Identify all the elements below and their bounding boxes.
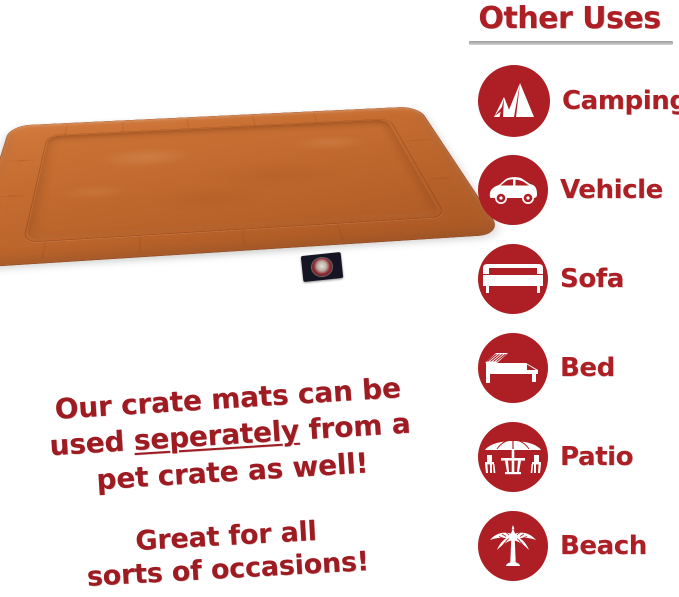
- page-title: Other Uses: [460, 1, 679, 36]
- list-item-camping: Camping: [460, 56, 679, 145]
- use-label-camping: Camping: [562, 86, 679, 116]
- list-item-bed: Bed: [460, 323, 679, 412]
- tagline-primary-line2-post: from a: [298, 407, 411, 447]
- sofa-badge: [478, 244, 548, 314]
- other-uses-panel: Other Uses Camping: [460, 0, 679, 593]
- list-item-beach: Beach: [460, 501, 679, 590]
- beach-badge: [478, 511, 548, 581]
- bed-icon: [484, 350, 542, 386]
- use-label-patio: Patio: [560, 442, 633, 472]
- list-item-sofa: Sofa: [460, 234, 679, 323]
- tent-icon: [490, 81, 538, 121]
- product-image: [0, 62, 458, 300]
- sofa-icon: [483, 262, 543, 296]
- patio-umbrella-icon: [483, 435, 543, 479]
- car-icon: [486, 173, 540, 207]
- list-item-vehicle: Vehicle: [460, 145, 679, 234]
- heading-divider: [469, 41, 673, 45]
- uses-list: Camping: [460, 56, 679, 590]
- tagline-secondary: Great for all sorts of occasions!: [50, 511, 403, 596]
- use-label-sofa: Sofa: [560, 264, 624, 294]
- tagline-secondary-line2: sorts of occasions!: [86, 546, 370, 593]
- camping-badge: [478, 65, 550, 137]
- use-label-beach: Beach: [560, 531, 647, 561]
- use-label-vehicle: Vehicle: [560, 175, 663, 205]
- crate-mat-graphic: [0, 106, 505, 272]
- use-label-bed: Bed: [560, 353, 615, 383]
- product-panel: Our crate mats can be used seperately fr…: [0, 0, 458, 593]
- list-item-patio: Patio: [460, 412, 679, 501]
- bed-badge: [478, 333, 548, 403]
- tagline-primary-underlined-word: seperately: [133, 414, 300, 457]
- brand-emblem-icon: [311, 257, 333, 277]
- palm-tree-icon: [487, 521, 539, 571]
- tagline-primary-line2-pre: used: [49, 424, 135, 462]
- vehicle-badge: [478, 155, 548, 225]
- tagline-primary: Our crate mats can be used seperately fr…: [23, 368, 437, 503]
- brand-label-patch: [301, 252, 343, 282]
- patio-badge: [478, 422, 548, 492]
